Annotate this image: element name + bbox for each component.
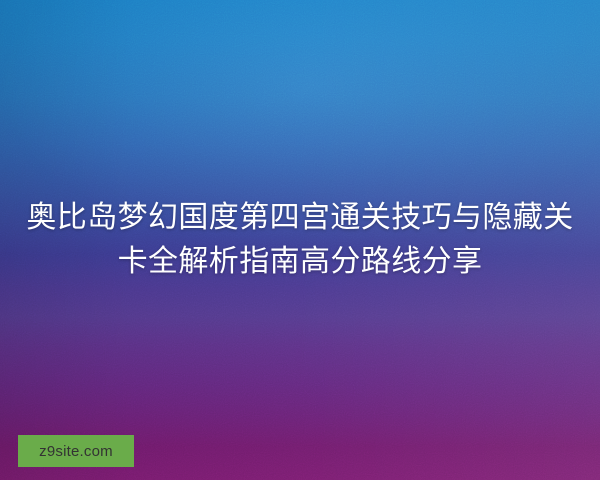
cover-image: 奥比岛梦幻国度第四宫通关技巧与隐藏关卡全解析指南高分路线分享 z9site.co… [0,0,600,480]
watermark-badge: z9site.com [18,435,134,467]
page-title-line-2: 卡全解析指南高分路线分享 [118,245,483,278]
page-title-line-1: 奥比岛梦幻国度第四宫通关技巧与隐藏关 [26,201,573,234]
title-block: 奥比岛梦幻国度第四宫通关技巧与隐藏关卡全解析指南高分路线分享 [0,0,600,480]
watermark-label: z9site.com [39,444,113,459]
page-title: 奥比岛梦幻国度第四宫通关技巧与隐藏关卡全解析指南高分路线分享 [22,196,578,284]
